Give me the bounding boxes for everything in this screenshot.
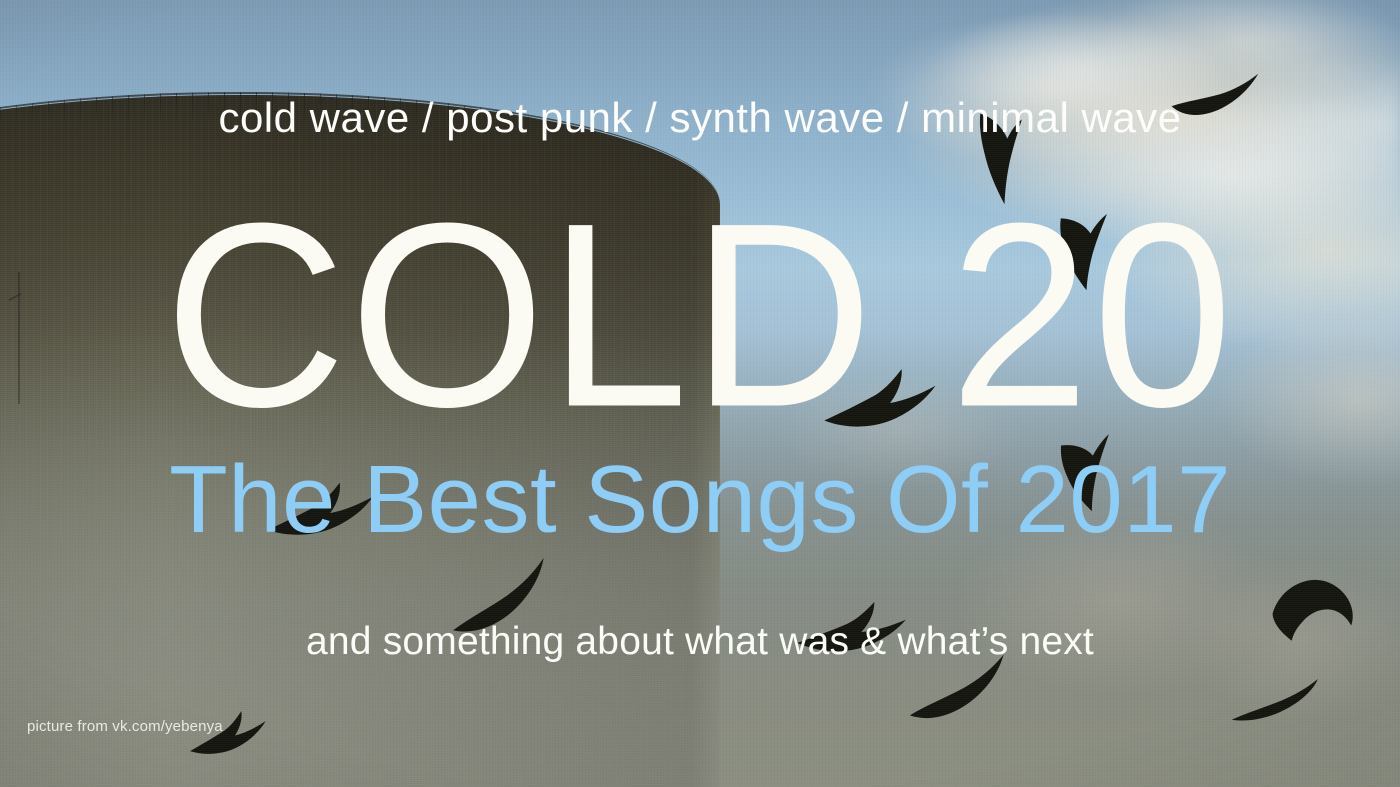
tagline: and something about what was & what’s ne…: [0, 622, 1400, 661]
genre-list: cold wave / post punk / synth wave / min…: [0, 97, 1400, 139]
subtitle: The Best Songs Of 2017: [0, 452, 1400, 548]
picture-credit: picture from vk.com/yebenya: [27, 718, 223, 735]
page-title: COLD 20: [0, 185, 1400, 447]
poster-canvas: cold wave / post punk / synth wave / min…: [0, 0, 1400, 787]
